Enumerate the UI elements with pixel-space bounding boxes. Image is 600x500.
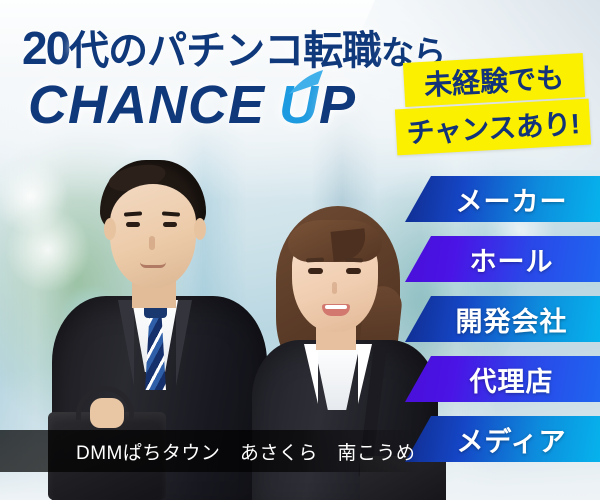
category-button-developer[interactable]: 開発会社 bbox=[405, 296, 600, 342]
category-button-media[interactable]: メディア bbox=[405, 416, 600, 462]
headline: 20代のパチンコ転職なら bbox=[22, 18, 445, 76]
man-hand bbox=[90, 398, 124, 428]
woman-eyebrow-right bbox=[345, 258, 363, 263]
category-button-hall[interactable]: ホール bbox=[405, 236, 600, 282]
caption-bar: DMMぱちタウン あさくら 南こうめ bbox=[0, 430, 420, 472]
man-lapel-left bbox=[118, 300, 134, 386]
man-mouth bbox=[140, 262, 166, 268]
logo-letter-u: U bbox=[279, 75, 319, 135]
catch-badge: 未経験でも チャンスあり! bbox=[396, 56, 592, 156]
man-ear-right bbox=[194, 218, 206, 240]
woman-collar-left bbox=[304, 344, 318, 404]
man-eye-left bbox=[126, 222, 140, 227]
category-button-list: メーカー ホール 開発会社 代理店 メディア bbox=[405, 176, 600, 462]
man-ear-left bbox=[104, 218, 116, 240]
category-button-maker[interactable]: メーカー bbox=[405, 176, 600, 222]
category-label: メーカー bbox=[438, 180, 568, 219]
headline-number: 20 bbox=[22, 22, 69, 74]
advertisement-banner: 20代のパチンコ転職なら CHANCE UP 未経験でも チャンスあり! メーカ… bbox=[0, 0, 600, 500]
logo-letter-p: P bbox=[319, 75, 356, 135]
category-button-agency[interactable]: 代理店 bbox=[405, 356, 600, 402]
man-lapel-right bbox=[176, 300, 192, 386]
logo-word-up: UP bbox=[279, 74, 356, 136]
woman-mouth bbox=[322, 304, 350, 316]
category-label: メディア bbox=[438, 420, 566, 459]
woman-nose bbox=[332, 282, 337, 294]
category-label: 代理店 bbox=[452, 360, 554, 399]
man-eye-right bbox=[163, 222, 177, 227]
woman-eye-left bbox=[308, 268, 323, 274]
chance-up-logo: CHANCE UP bbox=[28, 74, 356, 136]
woman-bangs bbox=[288, 220, 382, 262]
badge-line-1: 未経験でも bbox=[403, 53, 585, 107]
headline-middle: 代のパチンコ転職 bbox=[69, 29, 381, 73]
category-label: 開発会社 bbox=[438, 300, 568, 339]
logo-word-chance: CHANCE bbox=[28, 75, 265, 135]
woman-eye-right bbox=[346, 268, 361, 274]
man-nose bbox=[149, 236, 155, 250]
category-label: ホール bbox=[452, 240, 554, 279]
caption-text: DMMぱちタウン あさくら 南こうめ bbox=[0, 438, 415, 465]
badge-line-2: チャンスあり! bbox=[395, 99, 591, 156]
